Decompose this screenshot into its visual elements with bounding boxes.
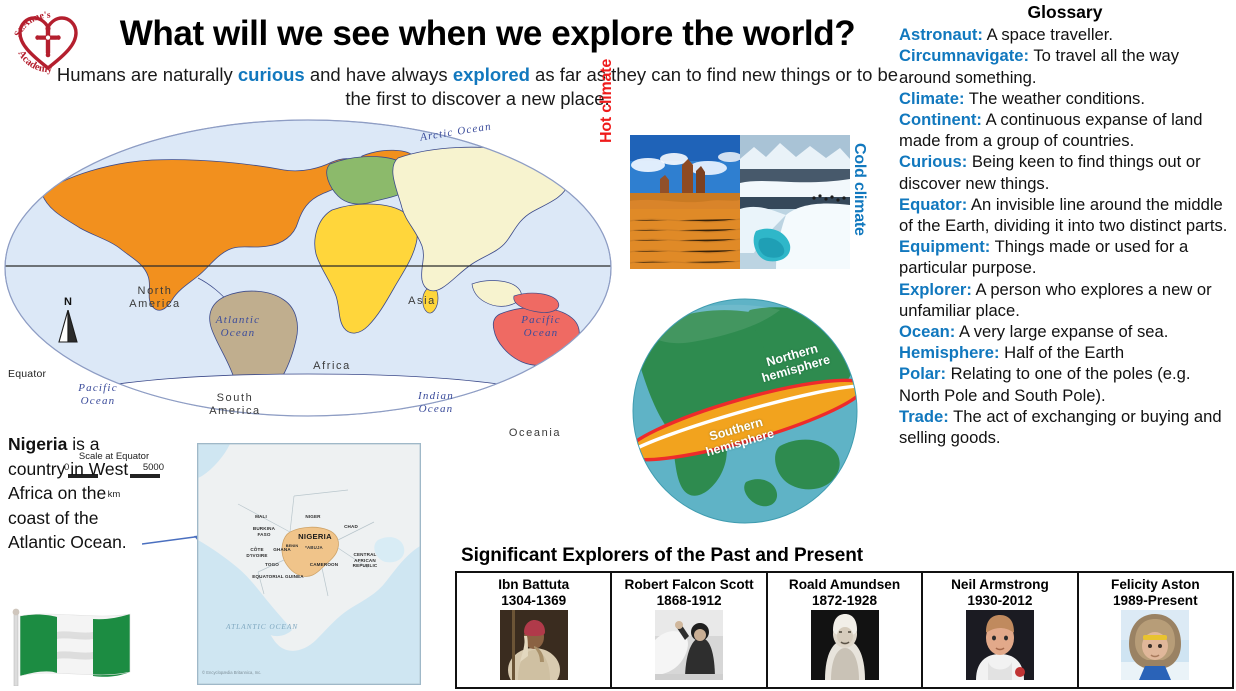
hot-desert-photo — [630, 135, 740, 269]
glossary-entry: Circumnavigate: To travel all the way ar… — [899, 45, 1231, 87]
nigeria-keyword: Nigeria — [8, 434, 67, 454]
map-label-oceania: Oceania — [500, 427, 570, 440]
explorer-cell: Felicity Aston1989-Present — [1079, 573, 1232, 687]
explorer-name: Robert Falcon Scott — [625, 577, 754, 593]
glossary-term: Ocean: — [899, 322, 955, 341]
glossary-entry: Polar: Relating to one of the poles (e.g… — [899, 363, 1231, 405]
cold-ice-photo — [740, 135, 850, 269]
glossary-panel: Glossary Astronaut: A space traveller.Ci… — [899, 2, 1231, 547]
explorer-name: Ibn Battuta — [498, 577, 569, 593]
glossary-entry: Astronaut: A space traveller. — [899, 24, 1231, 45]
glossary-entry: Equator: An invisible line around the mi… — [899, 194, 1231, 236]
explorer-cell: Robert Falcon Scott1868-1912 — [612, 573, 767, 687]
glossary-entry: Explorer: A person who explores a new or… — [899, 279, 1231, 321]
nigeria-locator-map: MALI NIGER CHAD BURKINA FASO CÔTE D'IVOI… — [197, 443, 421, 685]
explorer-name: Roald Amundsen — [789, 577, 900, 593]
glossary-term: Equipment: — [899, 237, 990, 256]
world-map: North America South America Africa Asia … — [2, 118, 614, 418]
glossary-term: Explorer: — [899, 280, 972, 299]
explorer-dates: 1872-1928 — [812, 593, 877, 609]
explorer-name: Neil Armstrong — [951, 577, 1049, 593]
explorer-dates: 1989-Present — [1113, 593, 1198, 609]
explorer-dates: 1868-1912 — [657, 593, 722, 609]
climate-photo-pair — [630, 135, 850, 269]
glossary-term: Continent: — [899, 110, 982, 129]
subtitle-text-2: and have always — [305, 64, 453, 85]
glossary-definition: A space traveller. — [983, 25, 1113, 44]
glossary-entry: Curious: Being keen to find things out o… — [899, 151, 1231, 193]
subtitle-keyword-curious: curious — [238, 64, 305, 85]
glossary-term: Circumnavigate: — [899, 46, 1029, 65]
explorers-title: Significant Explorers of the Past and Pr… — [461, 545, 863, 567]
subtitle-text-1: Humans are naturally — [57, 64, 238, 85]
compass-rose-icon: N — [55, 296, 81, 344]
glossary-list: Astronaut: A space traveller.Circumnavig… — [899, 24, 1231, 448]
glossary-entry: Hemisphere: Half of the Earth — [899, 342, 1231, 363]
glossary-entry: Trade: The act of exchanging or buying a… — [899, 406, 1231, 448]
hemispheres-globe: Northern hemisphere Southern hemisphere — [630, 296, 860, 526]
hot-climate-label: Hot climate — [598, 23, 616, 143]
explorer-name: Felicity Aston — [1111, 577, 1200, 593]
compass-north-label: N — [55, 296, 81, 308]
explorers-section: Significant Explorers of the Past and Pr… — [455, 545, 1236, 691]
explorer-dates: 1930-2012 — [967, 593, 1032, 609]
glossary-term: Curious: — [899, 152, 967, 171]
glossary-definition: A very large expanse of sea. — [955, 322, 1168, 341]
explorer-dates: 1304-1369 — [501, 593, 566, 609]
explorer-cell: Neil Armstrong1930-2012 — [923, 573, 1078, 687]
glossary-term: Equator: — [899, 195, 967, 214]
nigeria-map-credit: © Encyclopædia Britannica, Inc. — [202, 670, 261, 675]
ibn-battuta-portrait — [500, 610, 568, 680]
glossary-entry: Continent: A continuous expanse of land … — [899, 109, 1231, 151]
glossary-term: Hemisphere: — [899, 343, 1000, 362]
glossary-entry: Climate: The weather conditions. — [899, 88, 1231, 109]
glossary-entry: Equipment: Things made or used for a par… — [899, 236, 1231, 278]
glossary-term: Polar: — [899, 364, 946, 383]
glossary-term: Climate: — [899, 89, 964, 108]
felicity-aston-portrait — [1121, 610, 1189, 680]
page-title: What will we see when we explore the wor… — [80, 14, 895, 54]
nigeria-map-label-atlantic-ocean: ATLANTIC OCEAN — [226, 622, 298, 631]
glossary-title: Glossary — [899, 2, 1231, 23]
nigeria-flag — [10, 608, 138, 686]
neil-armstrong-portrait — [966, 610, 1034, 680]
explorer-cell: Ibn Battuta1304-1369 — [457, 573, 612, 687]
nigeria-connector-line — [142, 534, 204, 548]
glossary-term: Astronaut: — [899, 25, 983, 44]
subtitle-keyword-explored: explored — [453, 64, 530, 85]
glossary-definition: Half of the Earth — [1000, 343, 1125, 362]
nigeria-description: Nigeria is a country in West Africa on t… — [8, 432, 148, 555]
glossary-definition: The weather conditions. — [964, 89, 1145, 108]
cold-climate-label: Cold climate — [850, 143, 868, 263]
map-label-equator: Equator — [8, 368, 46, 380]
glossary-entry: Ocean: A very large expanse of sea. — [899, 321, 1231, 342]
knowledge-organizer-page: St.Anne's Academy What will we see when … — [0, 0, 1236, 691]
glossary-term: Trade: — [899, 407, 949, 426]
roald-amundsen-portrait — [811, 610, 879, 680]
explorer-cell: Roald Amundsen1872-1928 — [768, 573, 923, 687]
page-subtitle: Humans are naturally curious and have al… — [55, 63, 900, 111]
robert-falcon-scott-portrait — [655, 610, 723, 680]
explorers-table: Ibn Battuta1304-1369Robert Falcon Scott1… — [455, 571, 1234, 689]
